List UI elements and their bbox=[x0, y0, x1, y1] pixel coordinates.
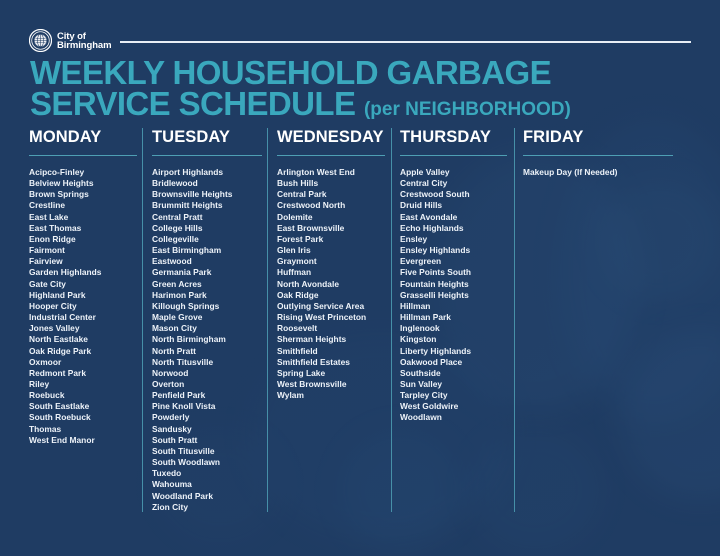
neighborhood-item: Garden Highlands bbox=[29, 267, 141, 278]
brand-row: City of Birmingham bbox=[29, 29, 691, 52]
neighborhood-item: Crestline bbox=[29, 200, 141, 211]
neighborhood-item: Hillman bbox=[400, 301, 512, 312]
neighborhood-item: West Brownsville bbox=[277, 379, 392, 390]
column-divider bbox=[142, 128, 143, 512]
day-heading-underline bbox=[29, 155, 137, 156]
neighborhood-item: Eastwood bbox=[152, 256, 270, 267]
neighborhood-item: Bridlewood bbox=[152, 178, 270, 189]
neighborhood-item: Brown Springs bbox=[29, 189, 141, 200]
neighborhood-item: Inglenook bbox=[400, 323, 512, 334]
neighborhood-item: Outlying Service Area bbox=[277, 301, 392, 312]
day-heading: THURSDAY bbox=[400, 128, 512, 146]
neighborhood-item: Liberty Highlands bbox=[400, 346, 512, 357]
neighborhood-item: Central Pratt bbox=[152, 212, 270, 223]
city-seal-icon bbox=[29, 29, 52, 52]
neighborhood-item: Hillman Park bbox=[400, 312, 512, 323]
neighborhood-item: Ensley bbox=[400, 234, 512, 245]
title-line-2: SERVICE SCHEDULE (per NEIGHBORHOOD) bbox=[30, 88, 690, 125]
neighborhood-item: West Goldwire bbox=[400, 401, 512, 412]
neighborhood-item: Echo Highlands bbox=[400, 223, 512, 234]
neighborhood-item: Penfield Park bbox=[152, 390, 270, 401]
neighborhood-item: Ensley Highlands bbox=[400, 245, 512, 256]
title-main: SERVICE SCHEDULE bbox=[30, 85, 355, 122]
day-column-tuesday: TUESDAY Airport HighlandsBridlewoodBrown… bbox=[152, 128, 270, 513]
neighborhood-item: Smithfield Estates bbox=[277, 357, 392, 368]
neighborhood-item: East Birmingham bbox=[152, 245, 270, 256]
day-column-friday: FRIDAY Makeup Day (If Needed) bbox=[523, 128, 691, 513]
neighborhood-item: Mason City bbox=[152, 323, 270, 334]
neighborhood-item: Brummitt Heights bbox=[152, 200, 270, 211]
neighborhood-item: Woodlawn bbox=[400, 412, 512, 423]
neighborhood-list-thursday: Apple ValleyCentral CityCrestwood SouthD… bbox=[400, 167, 512, 424]
neighborhood-item: Graymont bbox=[277, 256, 392, 267]
neighborhood-item: Roosevelt bbox=[277, 323, 392, 334]
day-heading-underline bbox=[523, 155, 673, 156]
neighborhood-item: Bush Hills bbox=[277, 178, 392, 189]
neighborhood-item: Spring Lake bbox=[277, 368, 392, 379]
neighborhood-item: Oak Ridge Park bbox=[29, 346, 141, 357]
neighborhood-item: Oxmoor bbox=[29, 357, 141, 368]
neighborhood-item: Smithfield bbox=[277, 346, 392, 357]
neighborhood-item: Dolemite bbox=[277, 212, 392, 223]
neighborhood-item: Collegeville bbox=[152, 234, 270, 245]
neighborhood-item: East Thomas bbox=[29, 223, 141, 234]
day-column-wednesday: WEDNESDAY Arlington West EndBush HillsCe… bbox=[277, 128, 392, 513]
neighborhood-item: Wylam bbox=[277, 390, 392, 401]
neighborhood-item: Tuxedo bbox=[152, 468, 270, 479]
neighborhood-item: Tarpley City bbox=[400, 390, 512, 401]
neighborhood-item: North Birmingham bbox=[152, 334, 270, 345]
brand-name: City of Birmingham bbox=[57, 32, 111, 50]
neighborhood-item: Acipco-Finley bbox=[29, 167, 141, 178]
neighborhood-item: Brownsville Heights bbox=[152, 189, 270, 200]
column-divider bbox=[514, 128, 515, 512]
neighborhood-item: South Titusville bbox=[152, 446, 270, 457]
neighborhood-item: Oakwood Place bbox=[400, 357, 512, 368]
neighborhood-item: Redmont Park bbox=[29, 368, 141, 379]
neighborhood-item: Crestwood North bbox=[277, 200, 392, 211]
neighborhood-item: Fairmont bbox=[29, 245, 141, 256]
neighborhood-item: Enon Ridge bbox=[29, 234, 141, 245]
neighborhood-item: Five Points South bbox=[400, 267, 512, 278]
neighborhood-list-tuesday: Airport HighlandsBridlewoodBrownsville H… bbox=[152, 167, 270, 513]
neighborhood-item: Riley bbox=[29, 379, 141, 390]
weekly-garbage-schedule-poster: City of Birmingham WEEKLY HOUSEHOLD GARB… bbox=[0, 0, 720, 556]
title-subtitle: (per NEIGHBORHOOD) bbox=[364, 99, 571, 120]
neighborhood-item: Zion City bbox=[152, 502, 270, 513]
neighborhood-item: Germania Park bbox=[152, 267, 270, 278]
schedule-grid: MONDAY Acipco-FinleyBelview HeightsBrown… bbox=[0, 128, 720, 528]
neighborhood-item: Apple Valley bbox=[400, 167, 512, 178]
day-heading-underline bbox=[400, 155, 507, 156]
neighborhood-item: West End Manor bbox=[29, 435, 141, 446]
neighborhood-item: Harimon Park bbox=[152, 290, 270, 301]
neighborhood-item: Sherman Heights bbox=[277, 334, 392, 345]
neighborhood-item: Woodland Park bbox=[152, 491, 270, 502]
neighborhood-item: Thomas bbox=[29, 424, 141, 435]
neighborhood-item: Rising West Princeton bbox=[277, 312, 392, 323]
day-heading: MONDAY bbox=[29, 128, 141, 146]
neighborhood-item: Gate City bbox=[29, 279, 141, 290]
title-line-1: WEEKLY HOUSEHOLD GARBAGE bbox=[30, 57, 690, 88]
neighborhood-item: Fountain Heights bbox=[400, 279, 512, 290]
neighborhood-item: South Eastlake bbox=[29, 401, 141, 412]
neighborhood-item: North Eastlake bbox=[29, 334, 141, 345]
neighborhood-item: Roebuck bbox=[29, 390, 141, 401]
day-heading-underline bbox=[277, 155, 385, 156]
neighborhood-item: Huffman bbox=[277, 267, 392, 278]
neighborhood-item: Crestwood South bbox=[400, 189, 512, 200]
neighborhood-item: Hooper City bbox=[29, 301, 141, 312]
neighborhood-list-wednesday: Arlington West EndBush HillsCentral Park… bbox=[277, 167, 392, 401]
neighborhood-item: Central Park bbox=[277, 189, 392, 200]
neighborhood-item: College Hills bbox=[152, 223, 270, 234]
neighborhood-item: East Brownsville bbox=[277, 223, 392, 234]
day-heading: FRIDAY bbox=[523, 128, 691, 146]
neighborhood-item: East Avondale bbox=[400, 212, 512, 223]
neighborhood-item: Norwood bbox=[152, 368, 270, 379]
neighborhood-item: East Lake bbox=[29, 212, 141, 223]
neighborhood-list-monday: Acipco-FinleyBelview HeightsBrown Spring… bbox=[29, 167, 141, 446]
neighborhood-item: Sandusky bbox=[152, 424, 270, 435]
neighborhood-item: South Roebuck bbox=[29, 412, 141, 423]
neighborhood-item: Airport Highlands bbox=[152, 167, 270, 178]
neighborhood-item: North Titusville bbox=[152, 357, 270, 368]
neighborhood-item: Wahouma bbox=[152, 479, 270, 490]
day-heading: TUESDAY bbox=[152, 128, 270, 146]
header-rule bbox=[120, 41, 691, 43]
neighborhood-item: Highland Park bbox=[29, 290, 141, 301]
neighborhood-item: Southside bbox=[400, 368, 512, 379]
neighborhood-item: North Avondale bbox=[277, 279, 392, 290]
neighborhood-item: Belview Heights bbox=[29, 178, 141, 189]
neighborhood-item: North Pratt bbox=[152, 346, 270, 357]
neighborhood-item: Kingston bbox=[400, 334, 512, 345]
day-column-thursday: THURSDAY Apple ValleyCentral CityCrestwo… bbox=[400, 128, 512, 513]
neighborhood-item: South Woodlawn bbox=[152, 457, 270, 468]
neighborhood-item: Industrial Center bbox=[29, 312, 141, 323]
neighborhood-item: Glen Iris bbox=[277, 245, 392, 256]
neighborhood-item: Sun Valley bbox=[400, 379, 512, 390]
neighborhood-item: Overton bbox=[152, 379, 270, 390]
neighborhood-item: Evergreen bbox=[400, 256, 512, 267]
neighborhood-item: Fairview bbox=[29, 256, 141, 267]
neighborhood-item: Forest Park bbox=[277, 234, 392, 245]
neighborhood-item: Green Acres bbox=[152, 279, 270, 290]
neighborhood-item: Oak Ridge bbox=[277, 290, 392, 301]
neighborhood-item: Druid Hills bbox=[400, 200, 512, 211]
neighborhood-item: Powderly bbox=[152, 412, 270, 423]
neighborhood-item: South Pratt bbox=[152, 435, 270, 446]
neighborhood-item: Central City bbox=[400, 178, 512, 189]
neighborhood-item: Arlington West End bbox=[277, 167, 392, 178]
page-title: WEEKLY HOUSEHOLD GARBAGE SERVICE SCHEDUL… bbox=[30, 57, 690, 125]
neighborhood-item: Pine Knoll Vista bbox=[152, 401, 270, 412]
neighborhood-item: Grasselli Heights bbox=[400, 290, 512, 301]
day-heading-underline bbox=[152, 155, 262, 156]
day-heading: WEDNESDAY bbox=[277, 128, 392, 146]
neighborhood-item: Killough Springs bbox=[152, 301, 270, 312]
day-column-monday: MONDAY Acipco-FinleyBelview HeightsBrown… bbox=[29, 128, 141, 513]
neighborhood-item: Maple Grove bbox=[152, 312, 270, 323]
neighborhood-item: Jones Valley bbox=[29, 323, 141, 334]
friday-note: Makeup Day (If Needed) bbox=[523, 167, 691, 178]
